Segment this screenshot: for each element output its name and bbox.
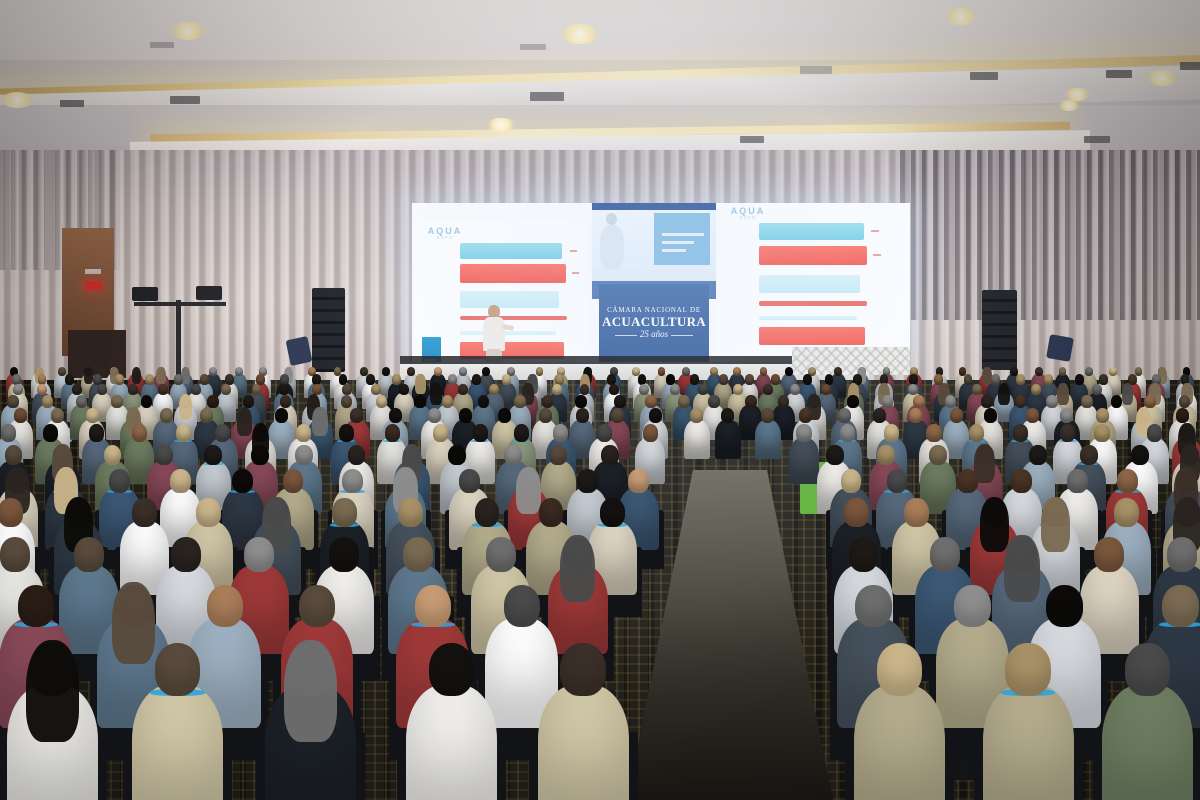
audience-member-head xyxy=(207,395,218,408)
audience-member-head xyxy=(926,424,941,441)
audience-member-head xyxy=(371,384,381,395)
audience-member-head xyxy=(433,424,448,441)
audience-member-head xyxy=(884,424,899,441)
aqua-logo-left: AQUA EXPO xyxy=(422,227,468,241)
audience-member-head xyxy=(840,424,855,441)
audience-member-head xyxy=(643,424,658,441)
line-array-speaker-left xyxy=(312,288,345,372)
audience-member-head xyxy=(109,469,130,493)
audience-member-head xyxy=(930,537,960,572)
audience-member-head xyxy=(339,424,354,441)
audience-member-head xyxy=(597,424,612,441)
audience-member-head xyxy=(160,408,173,423)
audience-member-head xyxy=(475,498,500,527)
audience-member-head xyxy=(1096,408,1109,423)
ceiling-downlight xyxy=(944,8,978,25)
audience-member-head xyxy=(761,408,774,423)
audience-member-head xyxy=(459,469,480,493)
audience-member-head xyxy=(97,384,107,395)
audience-member-head xyxy=(244,537,274,572)
chart-bar xyxy=(759,246,867,265)
audience-member-head xyxy=(553,424,568,441)
audience-member-head xyxy=(575,395,586,408)
audience-member-head xyxy=(37,384,47,395)
ceiling-vent xyxy=(520,44,546,50)
audience-member-head xyxy=(577,469,598,493)
audience-member-head xyxy=(111,395,122,408)
audience-member-head xyxy=(18,585,54,627)
audience-member-head xyxy=(514,395,525,408)
feed-slide-block xyxy=(662,241,694,244)
audience-member-head xyxy=(838,408,851,423)
screen-right-panel: AQUA EXPO xyxy=(717,203,909,363)
audience-member-head xyxy=(614,395,625,408)
audience-member-head xyxy=(877,445,895,465)
audience-member-head xyxy=(76,395,87,408)
audience-member-head xyxy=(389,408,402,423)
audience-member-head xyxy=(778,395,789,408)
audience-member-head xyxy=(299,585,335,627)
ceiling-downlight xyxy=(1146,70,1178,86)
audience-member-head xyxy=(609,384,619,395)
audience-member-head xyxy=(1176,408,1189,423)
audience-member-torso xyxy=(406,685,497,800)
audience-member-head xyxy=(1011,469,1032,493)
audience-member-torso xyxy=(755,420,781,459)
audience-member-head xyxy=(215,424,230,441)
audience-member-head xyxy=(549,445,567,465)
exit-sign xyxy=(85,281,102,290)
audience-member-head xyxy=(1125,643,1171,696)
audience-member-head xyxy=(478,395,489,408)
audience-member-head xyxy=(560,643,606,696)
audience-member-head xyxy=(72,384,82,395)
audience-member-head xyxy=(670,384,680,395)
audience-member-head xyxy=(1075,374,1084,384)
ceiling-downlight xyxy=(560,24,600,44)
audience-member-head xyxy=(385,424,400,441)
audience-member-head xyxy=(649,408,662,423)
audience-member-head xyxy=(342,384,352,395)
audience-member-head xyxy=(283,469,304,493)
audience-member-head xyxy=(514,424,529,441)
audience-member-head xyxy=(628,469,649,493)
audience-member-hair xyxy=(560,535,595,602)
audience-member-head xyxy=(251,445,269,465)
audience-member-head xyxy=(502,374,511,384)
audience-member-head xyxy=(141,395,152,408)
audience-member-head xyxy=(639,384,649,395)
audience-member-head xyxy=(459,408,472,423)
audience-member-head xyxy=(232,469,253,493)
ceiling-vent xyxy=(800,66,832,74)
feed-slide-block xyxy=(592,203,716,210)
audience-member-head xyxy=(790,384,800,395)
audience-member-head xyxy=(174,374,183,384)
audience-member-head xyxy=(348,445,366,465)
audience-member-head xyxy=(473,424,488,441)
audience-member-head xyxy=(909,408,922,423)
audience-member-head xyxy=(275,408,288,423)
audience-member-head xyxy=(882,395,893,408)
chart-tick xyxy=(873,254,881,256)
audience-member-head xyxy=(542,395,553,408)
audience-member-torso xyxy=(789,438,819,483)
audience-member-head xyxy=(745,395,756,408)
audience-member-head xyxy=(708,395,719,408)
audience-member xyxy=(7,643,98,800)
audience-member xyxy=(265,643,356,800)
audience-member-head xyxy=(1005,643,1051,696)
audience-member-head xyxy=(342,469,363,493)
audience-member-head xyxy=(428,408,441,423)
audience-member-head xyxy=(600,498,625,527)
podium-line-1: CÁMARA NACIONAL DE xyxy=(599,307,709,314)
audience-member-torso xyxy=(854,685,945,800)
audience-member-head xyxy=(191,384,201,395)
ceiling-spot-fixture xyxy=(530,92,564,101)
audience-member-head xyxy=(1031,384,1041,395)
podium-line-2: ACUACULTURA xyxy=(599,315,709,328)
ceiling-vent xyxy=(150,42,174,48)
audience-member-head xyxy=(295,445,313,465)
audience-member-head xyxy=(280,395,291,408)
audience-member-head xyxy=(86,408,99,423)
audience-member-head xyxy=(128,384,138,395)
audience-member-head xyxy=(171,537,201,572)
audience-member-head xyxy=(486,537,516,572)
audience-member-head xyxy=(176,424,191,441)
chart-bar xyxy=(460,264,566,283)
audience-member xyxy=(983,643,1074,800)
audience-member-head xyxy=(969,424,984,441)
audience-member-torso xyxy=(132,685,223,800)
audience-member xyxy=(1102,643,1193,800)
audience-member-head xyxy=(504,445,522,465)
audience-member-head xyxy=(1081,395,1092,408)
audience-member-head xyxy=(1162,585,1198,627)
conference-hall-photo: AQUA EXPO CÁMARA NACIONAL DE xyxy=(0,0,1200,800)
audience-member xyxy=(755,408,781,462)
audience-member-head xyxy=(1046,585,1082,627)
audience-member-head xyxy=(1111,395,1122,408)
audience-member-head xyxy=(472,374,481,384)
audience-member-head xyxy=(821,384,831,395)
audience-member-head xyxy=(1026,408,1039,423)
audience-member-head xyxy=(1016,374,1025,384)
audience-member-head xyxy=(104,445,122,465)
audience-member-head xyxy=(785,367,793,376)
audience-member-head xyxy=(155,445,173,465)
audience-member-head xyxy=(196,498,221,527)
audience-member-head xyxy=(1067,469,1088,493)
audience-member-head xyxy=(296,424,311,441)
presenter-shirt xyxy=(483,317,505,351)
audience-member-head xyxy=(51,408,64,423)
audience-member-head xyxy=(155,643,201,696)
audience-member-head xyxy=(332,498,357,527)
audience-member-head xyxy=(1059,367,1067,376)
audience-member-head xyxy=(1114,498,1139,527)
ceiling-downlight xyxy=(1058,100,1080,111)
audience-member-head xyxy=(826,445,844,465)
audience-member-head xyxy=(1029,445,1047,465)
audience-member-head xyxy=(690,408,703,423)
lighting-fixture xyxy=(132,287,158,301)
audience-member-head xyxy=(904,498,929,527)
drape-curtain-dark-right xyxy=(900,150,1200,320)
audience-member-head xyxy=(398,498,423,527)
audience-member-head xyxy=(399,384,409,395)
audience-member-torso xyxy=(983,685,1074,800)
exit-sign-housing xyxy=(85,269,101,274)
audience-member-head xyxy=(645,395,656,408)
feed-presenter-body xyxy=(600,225,624,269)
audience-member-hair xyxy=(132,367,141,385)
audience-member-head xyxy=(1147,424,1162,441)
ceiling-spot-fixture xyxy=(1180,62,1200,70)
audience-member-head xyxy=(350,408,363,423)
audience-member-head xyxy=(981,395,992,408)
audience-member-head xyxy=(132,424,147,441)
ceiling-downlight xyxy=(0,92,34,108)
audience-member xyxy=(406,643,497,800)
audience-member-head xyxy=(207,585,243,627)
ceiling-spot-fixture xyxy=(1106,70,1132,78)
chart-bar xyxy=(759,301,867,306)
audience-member-head xyxy=(448,445,466,465)
audience-member-head xyxy=(552,384,562,395)
audience-member-head xyxy=(376,395,387,408)
feed-slide-block xyxy=(654,213,710,265)
audience-member-head xyxy=(908,384,918,395)
audience-member-head xyxy=(279,384,289,395)
audience-member-head xyxy=(954,585,990,627)
feed-presenter-head xyxy=(606,213,617,225)
audience-member-head xyxy=(1167,537,1197,572)
audience-member-head xyxy=(1046,395,1057,408)
ceiling-spot-fixture xyxy=(170,96,200,104)
chart-bar xyxy=(759,223,864,240)
audience-member-head xyxy=(498,408,511,423)
audience-member-head xyxy=(329,537,359,572)
audience-member-head xyxy=(721,408,734,423)
audience-member-head xyxy=(950,408,963,423)
audience-member-hair xyxy=(415,374,425,394)
audience-member-head xyxy=(170,469,191,493)
audience-member-head xyxy=(1080,445,1098,465)
aqua-logo-right: AQUA EXPO xyxy=(725,207,771,221)
ceiling-spot-fixture xyxy=(1084,136,1110,143)
audience-member-head xyxy=(13,384,23,395)
feed-slide-block xyxy=(592,269,716,281)
audience-member-head xyxy=(799,408,812,423)
audience-member-head xyxy=(844,498,869,527)
audience-member-head xyxy=(132,498,157,527)
audience-member-head xyxy=(0,498,23,527)
chart-bar xyxy=(460,243,562,259)
audience-member-head xyxy=(429,643,475,696)
audience-member xyxy=(854,643,945,800)
audience-member-head xyxy=(855,585,891,627)
feed-slide-block xyxy=(662,249,686,252)
audience-member-head xyxy=(1092,384,1102,395)
podium-rule-right xyxy=(671,335,693,336)
ceiling-spot-fixture xyxy=(60,100,84,107)
audience-member-head xyxy=(403,537,433,572)
audience-member-torso xyxy=(538,685,629,800)
audience-member-hair xyxy=(179,394,192,420)
audience-member-head xyxy=(945,395,956,408)
audience-member-head xyxy=(539,498,564,527)
feed-slide-block xyxy=(662,233,704,236)
line-array-speaker-right xyxy=(982,290,1017,370)
audience-member-head xyxy=(7,395,18,408)
moving-head-light-right xyxy=(1046,334,1074,362)
audience-member xyxy=(789,424,819,487)
audience-member-head xyxy=(489,384,499,395)
audience-member-head xyxy=(200,408,213,423)
audience-member-head xyxy=(698,384,708,395)
audience-member-head xyxy=(243,395,254,408)
audience-member-head xyxy=(1131,445,1149,465)
audience-member-head xyxy=(678,395,689,408)
audience-member-head xyxy=(719,374,728,384)
audience-member-head xyxy=(89,424,104,441)
audience-member-head xyxy=(972,384,982,395)
audience-member-head xyxy=(414,395,425,408)
audience-member-head xyxy=(1060,408,1073,423)
audience-member-head xyxy=(984,408,997,423)
audience-member-hair xyxy=(26,640,80,742)
audience-member-head xyxy=(1060,424,1075,441)
audience-member-head xyxy=(796,424,811,441)
chart-bar xyxy=(759,275,860,293)
audience-member-head xyxy=(1094,424,1109,441)
podium-rule-left xyxy=(615,335,637,336)
aqua-logo-right-sub: EXPO xyxy=(725,216,771,221)
audience-member-head xyxy=(873,408,886,423)
audience-member xyxy=(715,408,741,462)
audience-member xyxy=(538,643,629,800)
audience-member-head xyxy=(847,395,858,408)
audience-member-head xyxy=(1015,395,1026,408)
audience-member-hair xyxy=(284,640,338,742)
audience-member-head xyxy=(1094,537,1124,572)
lighting-stand-crossbar xyxy=(134,302,226,306)
audience-member-head xyxy=(1179,395,1190,408)
audience-member-head xyxy=(158,384,168,395)
chart-bar xyxy=(759,316,857,320)
audience-member-head xyxy=(611,408,624,423)
audience-member-head xyxy=(763,384,773,395)
audience-member-head xyxy=(601,445,619,465)
podium-graphic: CÁMARA NACIONAL DE ACUACULTURA 25 años xyxy=(599,284,709,363)
audience-member-head xyxy=(5,445,23,465)
ceiling-spot-fixture xyxy=(740,136,764,143)
audience-member-head xyxy=(252,384,262,395)
audience-member-head xyxy=(957,469,978,493)
aqua-logo-left-sub: EXPO xyxy=(422,236,468,241)
audience-member-head xyxy=(442,395,453,408)
audience-member-head xyxy=(733,384,743,395)
audience-member-head xyxy=(1144,395,1155,408)
audience-member-head xyxy=(434,367,442,376)
chart-tick xyxy=(572,272,579,274)
audience-member-head xyxy=(841,469,862,493)
audience-member-head xyxy=(539,408,552,423)
audience-member-head xyxy=(504,585,540,627)
ceiling-downlight xyxy=(170,22,206,40)
audience-member-head xyxy=(1013,424,1028,441)
audience-member-head xyxy=(913,395,924,408)
audience-member-head xyxy=(929,445,947,465)
ceiling-spot-fixture xyxy=(970,72,998,80)
audience-member-head xyxy=(204,445,222,465)
lighting-fixture xyxy=(196,286,222,300)
audience-member-head xyxy=(887,469,908,493)
chart-bar xyxy=(759,327,865,345)
audience-member-head xyxy=(849,537,879,572)
audience-member-torso xyxy=(1102,685,1193,800)
audience-member-head xyxy=(14,408,27,423)
audience-member-head xyxy=(341,395,352,408)
audience-member-head xyxy=(1117,469,1138,493)
audience-member-head xyxy=(458,384,468,395)
audience-member-head xyxy=(877,643,923,696)
chart-bar xyxy=(460,316,567,320)
audience-member xyxy=(132,643,223,800)
audience-member-head xyxy=(74,537,104,572)
chart-tick xyxy=(871,230,879,232)
audience-member-head xyxy=(576,408,589,423)
audience-member-head xyxy=(1,424,16,441)
audience-member-head xyxy=(0,537,30,572)
audience-member-head xyxy=(221,384,231,395)
audience-member-head xyxy=(415,585,451,627)
audience-member-head xyxy=(42,395,53,408)
ceiling-downlight xyxy=(486,118,516,132)
audience-member-head xyxy=(580,384,590,395)
audience-member xyxy=(684,408,710,462)
audience-member-head xyxy=(43,424,58,441)
audience-member-torso xyxy=(684,420,710,459)
chart-tick xyxy=(570,250,577,252)
audience-member-torso xyxy=(715,420,741,459)
